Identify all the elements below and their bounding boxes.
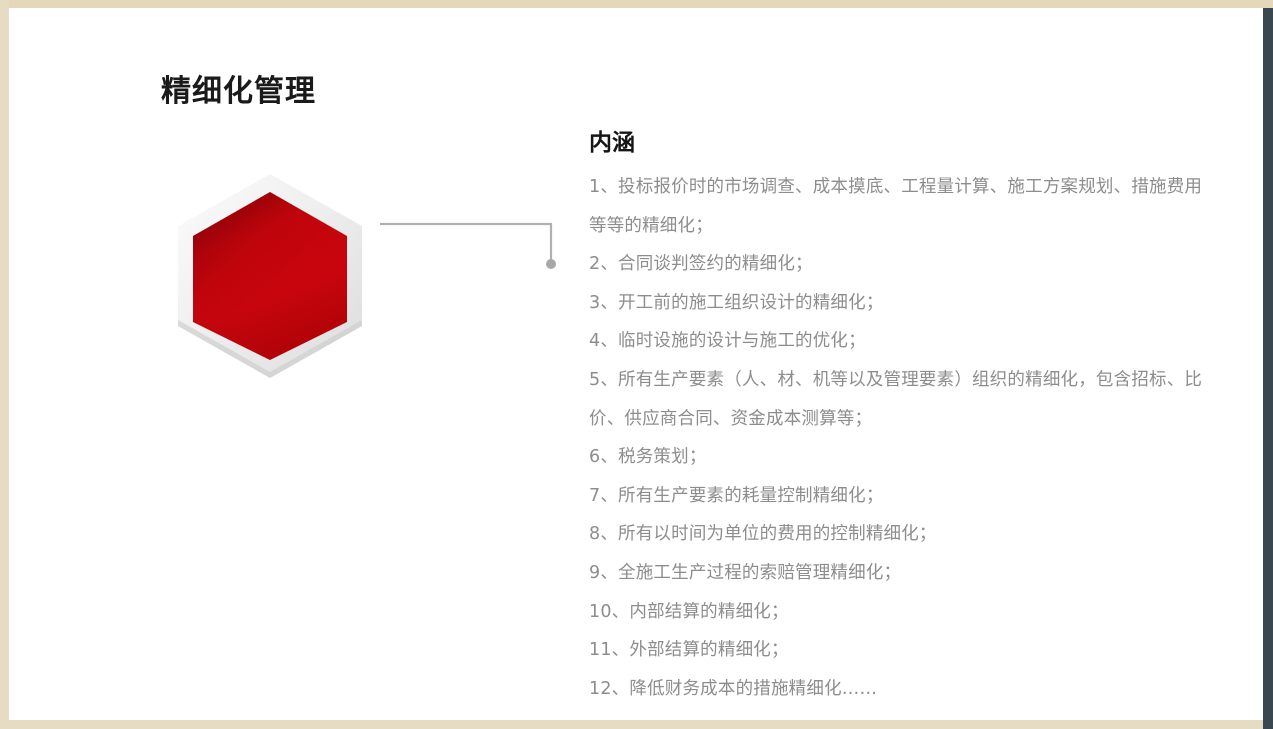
list-item: 7、所有生产要素的耗量控制精细化；: [589, 477, 1214, 516]
slide-canvas: 精细化管理: [0, 0, 1273, 729]
content-heading: 内涵: [589, 128, 1214, 158]
hexagon-badge: [172, 170, 368, 382]
slide-border-right: [1263, 8, 1273, 729]
connector-elbow-path: [380, 224, 551, 260]
list-item: 9、全施工生产过程的索赔管理精细化；: [589, 554, 1214, 593]
list-item: 3、开工前的施工组织设计的精细化；: [589, 284, 1214, 323]
list-item: 12、降低财务成本的措施精细化……: [589, 670, 1214, 709]
slide-border-top: [0, 0, 1273, 8]
page-title: 精细化管理: [161, 66, 316, 110]
content-block: 内涵 1、投标报价时的市场调查、成本摸底、工程量计算、施工方案规划、措施费用等等…: [589, 128, 1214, 708]
connector-end-dot: [546, 259, 556, 269]
connector-line: [380, 218, 560, 276]
slide-border-left: [0, 0, 9, 729]
list-item: 5、所有生产要素（人、材、机等以及管理要素）组织的精细化，包含招标、比价、供应商…: [589, 361, 1214, 438]
list-item: 11、外部结算的精细化；: [589, 631, 1214, 670]
list-item: 8、所有以时间为单位的费用的控制精细化；: [589, 515, 1214, 554]
list-item: 1、投标报价时的市场调查、成本摸底、工程量计算、施工方案规划、措施费用等等的精细…: [589, 168, 1214, 245]
list-item: 6、税务策划；: [589, 438, 1214, 477]
list-item: 4、临时设施的设计与施工的优化；: [589, 322, 1214, 361]
list-item: 2、合同谈判签约的精细化；: [589, 245, 1214, 284]
slide-border-bottom: [0, 720, 1273, 729]
list-item: 10、内部结算的精细化；: [589, 593, 1214, 632]
